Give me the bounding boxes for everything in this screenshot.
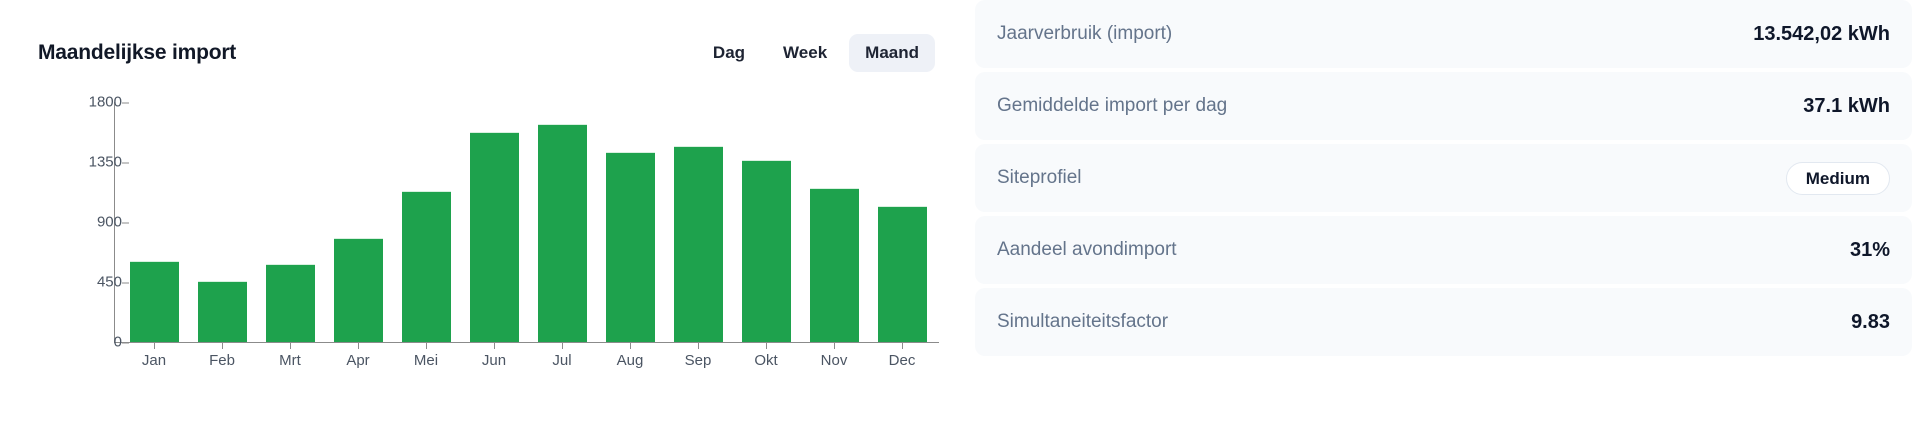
y-axis-tick-label: 1800 [38, 94, 122, 111]
bar-slot [460, 102, 528, 342]
y-axis-tick-label: 450 [38, 274, 122, 291]
tab-dag[interactable]: Dag [697, 34, 761, 72]
x-axis-tick-label: Sep [664, 350, 732, 372]
page-title: Maandelijkse import [38, 41, 236, 65]
x-axis-tick-label: Nov [800, 350, 868, 372]
period-tabs: Dag Week Maand [697, 34, 935, 72]
bar-slot [188, 102, 256, 342]
x-axis-tick-mark [222, 342, 223, 349]
stat-value: 9.83 [1851, 311, 1890, 334]
x-axis-tick-mark [698, 342, 699, 349]
bar-jul[interactable] [538, 124, 587, 342]
bar-feb[interactable] [198, 281, 247, 342]
stat-row: SiteprofielMedium [975, 144, 1912, 212]
bar-sep[interactable] [674, 146, 723, 342]
tab-maand[interactable]: Maand [849, 34, 935, 72]
x-axis-label-slot: Mei [392, 350, 460, 372]
bar-nov[interactable] [810, 188, 859, 342]
x-axis-label-slot: Sep [664, 350, 732, 372]
x-axis-label-slot: Apr [324, 350, 392, 372]
x-axis-tick-mark [494, 342, 495, 349]
x-axis-label-slot: Aug [596, 350, 664, 372]
x-axis-tick-mark [902, 342, 903, 349]
y-axis-tick-label: 0 [38, 334, 122, 351]
y-axis-tick-mark [122, 342, 129, 343]
statistics-list: Jaarverbruik (import)13.542,02 kWhGemidd… [975, 0, 1920, 356]
stat-label: Siteprofiel [997, 167, 1082, 189]
stat-row: Aandeel avondimport31% [975, 216, 1912, 284]
x-axis-label-slot: Dec [868, 350, 936, 372]
dashboard-panel: Maandelijkse import Dag Week Maand 04509… [0, 0, 1920, 445]
bar-dec[interactable] [878, 206, 927, 342]
x-axis-tick-label: Apr [324, 350, 392, 372]
bar-slot [596, 102, 664, 342]
x-axis-line [114, 342, 939, 343]
x-axis-label-slot: Nov [800, 350, 868, 372]
bar-slot [256, 102, 324, 342]
y-axis-tick-label: 1350 [38, 154, 122, 171]
monthly-import-chart-card: Maandelijkse import Dag Week Maand 04509… [0, 0, 975, 445]
bar-slot [120, 102, 188, 342]
stat-label: Simultaneiteitsfactor [997, 311, 1168, 333]
stat-value: 31% [1850, 239, 1890, 262]
stat-label: Jaarverbruik (import) [997, 23, 1172, 45]
x-axis-tick-mark [358, 342, 359, 349]
x-axis-tick-label: Jun [460, 350, 528, 372]
status-badge[interactable]: Medium [1786, 162, 1890, 195]
x-axis-label-slot: Jul [528, 350, 596, 372]
x-axis-tick-mark [426, 342, 427, 349]
bar-okt[interactable] [742, 160, 791, 342]
stat-row: Jaarverbruik (import)13.542,02 kWh [975, 0, 1912, 68]
bar-mrt[interactable] [266, 264, 315, 342]
x-axis-label-slot: Jun [460, 350, 528, 372]
x-axis-label-slot: Jan [120, 350, 188, 372]
x-axis-tick-mark [290, 342, 291, 349]
bar-slot [732, 102, 800, 342]
x-axis-tick-mark [630, 342, 631, 349]
stat-value: 13.542,02 kWh [1753, 23, 1890, 46]
x-axis-tick-label: Mrt [256, 350, 324, 372]
stat-value: 37.1 kWh [1803, 95, 1890, 118]
bar-mei[interactable] [402, 191, 451, 342]
x-axis-label-slot: Mrt [256, 350, 324, 372]
bar-slot [528, 102, 596, 342]
chart-header: Maandelijkse import Dag Week Maand [38, 36, 935, 70]
x-axis-tick-label: Jan [120, 350, 188, 372]
x-axis-tick-label: Jul [528, 350, 596, 372]
x-axis-label-slot: Okt [732, 350, 800, 372]
stat-row: Simultaneiteitsfactor9.83 [975, 288, 1912, 356]
bar-slot [324, 102, 392, 342]
bar-slot [664, 102, 732, 342]
bar-slot [868, 102, 936, 342]
bar-aug[interactable] [606, 152, 655, 342]
x-axis-tick-mark [834, 342, 835, 349]
x-axis-tick-label: Feb [188, 350, 256, 372]
bar-series [120, 102, 936, 342]
x-axis-label-slot: Feb [188, 350, 256, 372]
bar-jan[interactable] [130, 261, 179, 342]
bar-chart-plot: 045090013501800 JanFebMrtAprMeiJunJulAug… [38, 92, 918, 402]
bar-jun[interactable] [470, 132, 519, 342]
x-axis-tick-mark [766, 342, 767, 349]
x-axis-tick-mark [562, 342, 563, 349]
x-axis-tick-label: Aug [596, 350, 664, 372]
x-axis-tick-label: Okt [732, 350, 800, 372]
stat-row: Gemiddelde import per dag37.1 kWh [975, 72, 1912, 140]
y-axis-tick-label: 900 [38, 214, 122, 231]
stat-label: Aandeel avondimport [997, 239, 1177, 261]
bar-apr[interactable] [334, 238, 383, 342]
bar-slot [800, 102, 868, 342]
x-axis-labels: JanFebMrtAprMeiJunJulAugSepOktNovDec [120, 350, 936, 372]
stat-label: Gemiddelde import per dag [997, 95, 1227, 117]
x-axis-tick-label: Dec [868, 350, 936, 372]
x-axis-tick-label: Mei [392, 350, 460, 372]
x-axis-tick-mark [154, 342, 155, 349]
bar-slot [392, 102, 460, 342]
tab-week[interactable]: Week [767, 34, 843, 72]
